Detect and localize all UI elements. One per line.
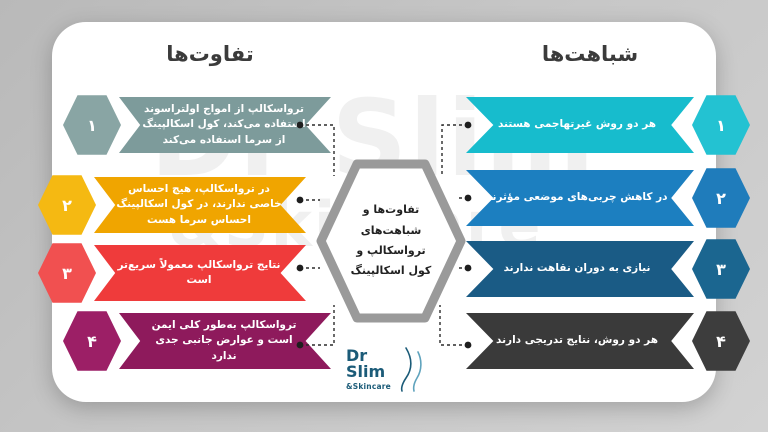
slide-canvas: Dr Slim &Skincare تفاوت‌ها شباهت‌ها (0, 0, 768, 432)
center-line-3: ترواسکالپ و (356, 241, 425, 261)
center-line-1: تفاوت‌ها و (363, 200, 420, 220)
center-line-2: شباهت‌های (361, 221, 422, 241)
center-hexagon: تفاوت‌ها و شباهت‌های ترواسکالپ و کول اسک… (316, 158, 466, 324)
center-hexagon-text: تفاوت‌ها و شباهت‌های ترواسکالپ و کول اسک… (316, 158, 466, 324)
center-line-4: کول اسکالپینگ (351, 261, 432, 281)
